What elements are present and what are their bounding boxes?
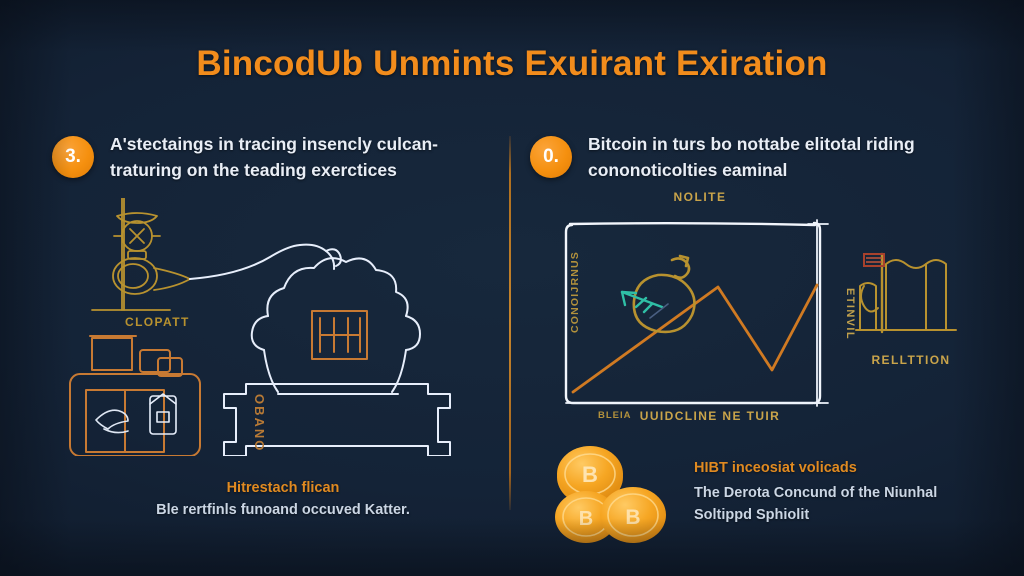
connector-arm bbox=[190, 245, 341, 279]
gauge-lamp-icon bbox=[92, 198, 190, 310]
column-right-header: 0. Bitcoin in turs bo nottabe elitotal r… bbox=[530, 132, 975, 188]
obano-label: OBANO bbox=[252, 394, 267, 452]
illustration-left: CLOPATT OBANO bbox=[62, 198, 452, 456]
column-left-header: 3. A'stectaings in tracing insencly culc… bbox=[52, 132, 492, 188]
side-bar-panel-label: RELLTTION bbox=[846, 353, 976, 367]
chart-container: NOLITE bbox=[540, 190, 860, 440]
svg-text:B: B bbox=[582, 462, 598, 487]
column-right: 0. Bitcoin in turs bo nottabe elitotal r… bbox=[530, 132, 975, 188]
badge-number-right: 0. bbox=[530, 136, 572, 178]
bitcoin-coins-svg: B B B bbox=[543, 443, 688, 548]
chart-title: NOLITE bbox=[540, 190, 860, 204]
svg-text:B: B bbox=[579, 508, 593, 530]
column-divider bbox=[509, 136, 511, 510]
chart-axis-ticks bbox=[566, 220, 828, 406]
device-box bbox=[70, 336, 200, 456]
caption-right-body: The Derota Concund of the Niunhal Soltip… bbox=[694, 482, 964, 527]
chart-svg bbox=[540, 190, 860, 440]
caption-left-body: Ble rertfinls funoand occuved Katter. bbox=[118, 500, 448, 522]
column-left-heading: A'stectaings in tracing insencly culcan-… bbox=[110, 132, 492, 183]
caption-right: HIBT inceosiat volicads The Derota Concu… bbox=[694, 458, 964, 527]
chart-y-axis-label: CONOIJRNUS bbox=[569, 251, 581, 333]
column-right-heading: Bitcoin in turs bo nottabe elitotal ridi… bbox=[588, 132, 975, 183]
page-title: BincodUb Unmints Exuirant Exiration bbox=[0, 44, 1024, 84]
circle-highlight-annotation bbox=[634, 256, 695, 332]
caption-right-highlight: HIBT inceosiat volicads bbox=[694, 458, 964, 480]
caption-left: Hitrestach flican Ble rertfinls funoand … bbox=[118, 478, 448, 522]
caption-left-highlight: Hitrestach flican bbox=[227, 480, 340, 496]
slide-canvas: BincodUb Unmints Exuirant Exiration 3. A… bbox=[0, 0, 1024, 576]
side-bar-panel-svg bbox=[846, 248, 976, 353]
machine-detail bbox=[312, 311, 367, 359]
bird-glyph bbox=[96, 410, 128, 432]
clopart-label: CLOPATT bbox=[125, 315, 190, 329]
badge-number-left: 3. bbox=[52, 136, 94, 178]
column-left: 3. A'stectaings in tracing insencly culc… bbox=[52, 132, 492, 188]
side-bar-panel: RELLTTION bbox=[846, 248, 976, 378]
bar-1 bbox=[886, 260, 946, 330]
machine-body bbox=[252, 258, 420, 394]
svg-text:B: B bbox=[625, 506, 640, 529]
arrow-marker bbox=[622, 292, 662, 312]
coin-right: B bbox=[600, 487, 666, 543]
chart-x-axis-label: UUIDCLINE NE TUIR bbox=[620, 408, 800, 424]
bitcoin-coins: B B B bbox=[543, 443, 688, 548]
